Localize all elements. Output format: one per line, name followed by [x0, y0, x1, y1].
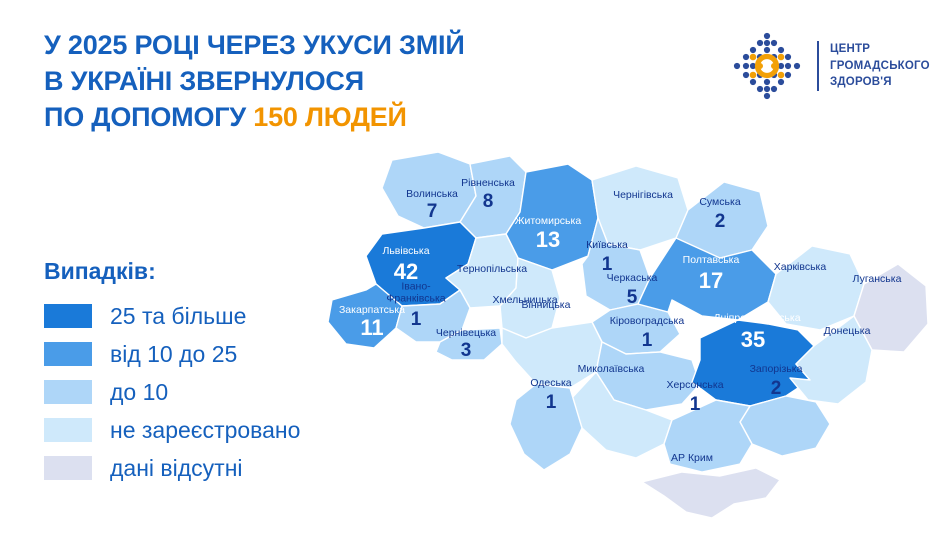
legend-item: не зареєстровано [44, 411, 300, 449]
legend-title: Випадків: [44, 258, 300, 285]
legend-label: не зареєстровано [110, 417, 300, 444]
title-highlight-count: 150 ЛЮДЕЙ [253, 102, 407, 132]
map-region-22[interactable] [510, 384, 582, 470]
ukraine-map-svg [320, 138, 950, 535]
cphl-dots-logo-icon [728, 27, 806, 105]
map-legend: Випадків: 25 та більшевід 10 до 25до 10н… [44, 258, 300, 487]
map-region-23[interactable] [664, 400, 752, 472]
map-region-3[interactable] [592, 166, 688, 250]
organization-logo: ЦЕНТР ГРОМАДСЬКОГО ЗДОРОВ'Я [728, 27, 930, 105]
legend-label: дані відсутні [110, 455, 243, 482]
legend-swatch [44, 304, 92, 328]
legend-swatch [44, 456, 92, 480]
title-line-3: ПО ДОПОМОГУ 150 ЛЮДЕЙ [44, 100, 664, 136]
legend-item: до 10 [44, 373, 300, 411]
legend-rows: 25 та більшевід 10 до 25до 10не зареєстр… [44, 297, 300, 487]
logo-line-1: ЦЕНТР [830, 41, 930, 58]
map-region-18[interactable] [692, 320, 814, 406]
ukraine-choropleth-map: Волинська7Рівненська8Житомирська13Черніг… [320, 138, 950, 535]
legend-label: від 10 до 25 [110, 341, 237, 368]
legend-swatch [44, 380, 92, 404]
map-region-11[interactable] [768, 246, 864, 330]
logo-wordmark: ЦЕНТР ГРОМАДСЬКОГО ЗДОРОВ'Я [830, 41, 930, 91]
legend-label: до 10 [110, 379, 168, 406]
map-region-24[interactable] [642, 468, 780, 518]
logo-line-2: ГРОМАДСЬКОГО [830, 58, 930, 75]
page-title: У 2025 РОЦІ ЧЕРЕЗ УКУСИ ЗМІЙ В УКРАЇНІ З… [44, 28, 664, 136]
map-region-20[interactable] [740, 396, 830, 456]
logo-line-3: ЗДОРОВ'Я [830, 74, 930, 91]
map-region-19[interactable] [790, 316, 872, 404]
legend-swatch [44, 418, 92, 442]
infographic-root: У 2025 РОЦІ ЧЕРЕЗ УКУСИ ЗМІЙ В УКРАЇНІ З… [0, 0, 950, 535]
title-line-1: У 2025 РОЦІ ЧЕРЕЗ УКУСИ ЗМІЙ [44, 28, 664, 64]
legend-item: 25 та більше [44, 297, 300, 335]
logo-divider [817, 41, 819, 91]
map-region-0[interactable] [382, 152, 476, 228]
legend-item: від 10 до 25 [44, 335, 300, 373]
legend-label: 25 та більше [110, 303, 246, 330]
title-line-3-text: ПО ДОПОМОГУ [44, 102, 253, 132]
legend-item: дані відсутні [44, 449, 300, 487]
title-line-2: В УКРАЇНІ ЗВЕРНУЛОСЯ [44, 64, 664, 100]
legend-swatch [44, 342, 92, 366]
